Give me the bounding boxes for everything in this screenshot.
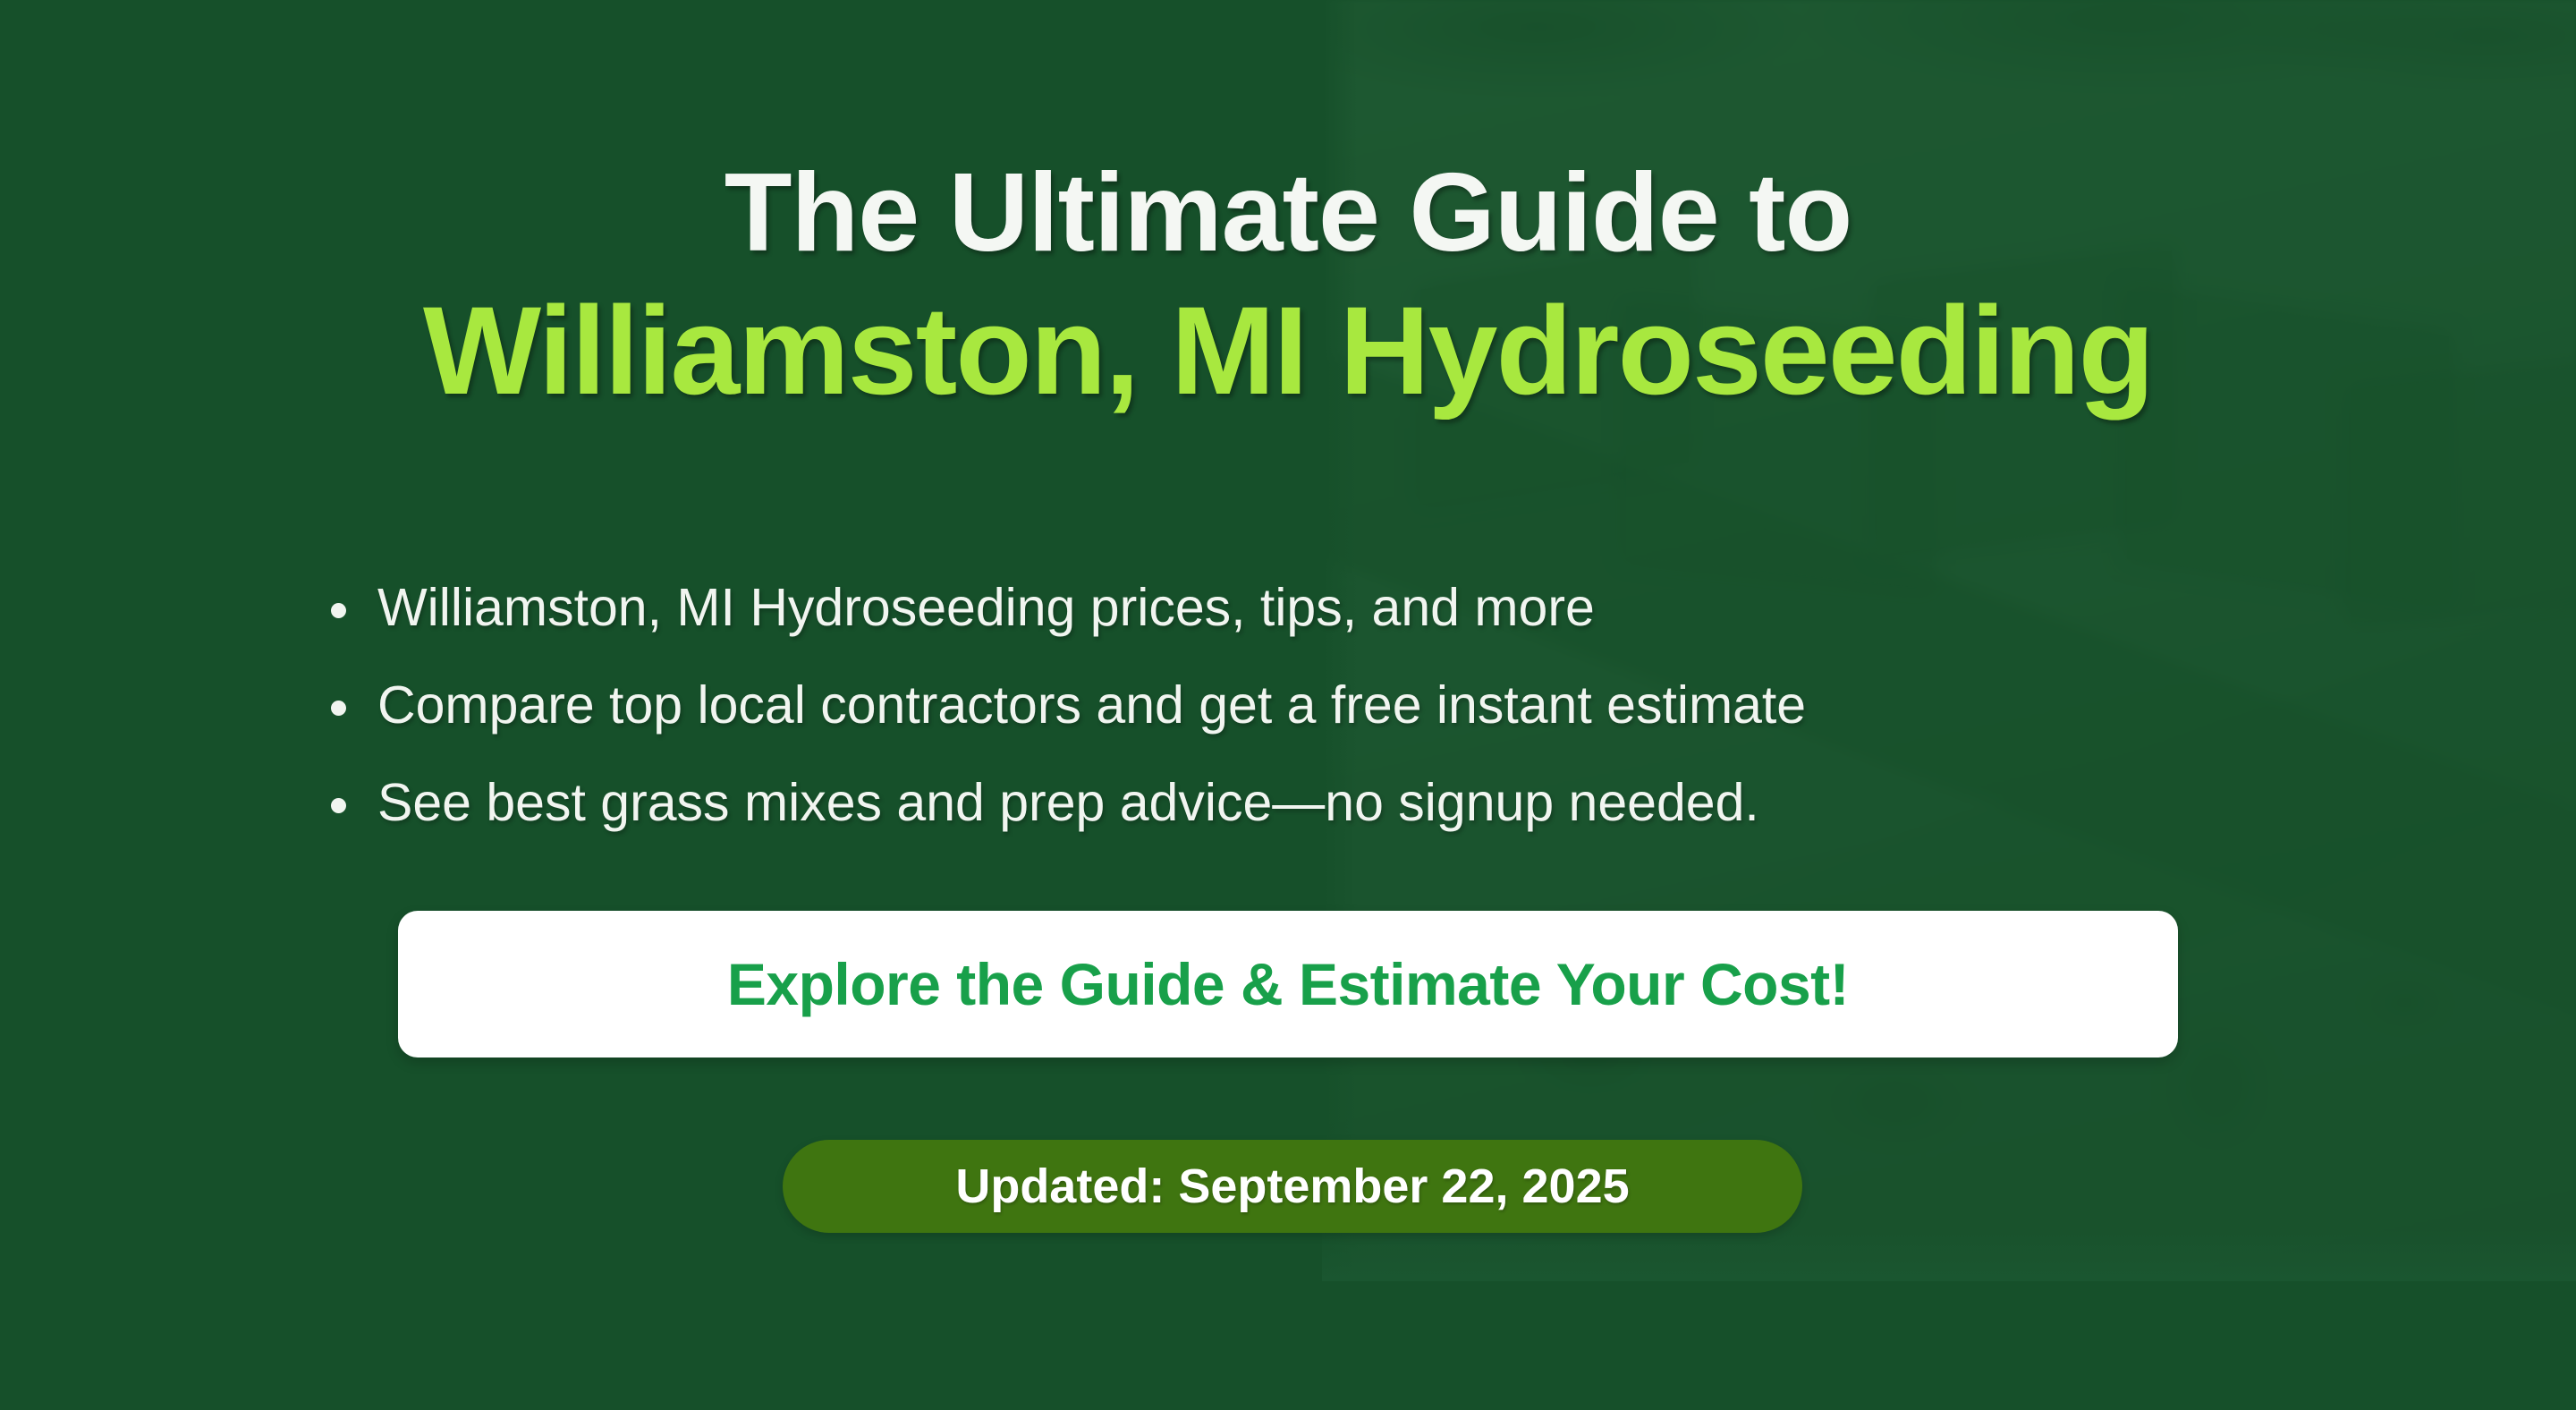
updated-date-badge: Updated: September 22, 2025 [783,1140,1802,1233]
list-item: Compare top local contractors and get a … [331,679,1806,732]
bullet-dot-icon [331,603,346,618]
list-item-label: Williamston, MI Hydroseeding prices, tip… [377,578,1595,637]
hero-content: The Ultimate Guide to Williamston, MI Hy… [0,0,2576,1410]
list-item: See best grass mixes and prep advice—no … [331,777,1806,829]
page-title: The Ultimate Guide to Williamston, MI Hy… [0,157,2576,413]
list-item-label: Compare top local contractors and get a … [377,675,1806,735]
bullet-dot-icon [331,701,346,716]
list-item-label: See best grass mixes and prep advice—no … [377,773,1759,832]
hero-banner: The Ultimate Guide to Williamston, MI Hy… [0,0,2576,1410]
headline-line-2: Williamston, MI Hydroseeding [0,288,2576,413]
list-item: Williamston, MI Hydroseeding prices, tip… [331,582,1806,634]
explore-guide-cta-button[interactable]: Explore the Guide & Estimate Your Cost! [398,911,2178,1057]
feature-bullet-list: Williamston, MI Hydroseeding prices, tip… [331,582,1806,874]
headline-line-1: The Ultimate Guide to [0,157,2576,268]
bullet-dot-icon [331,798,346,813]
